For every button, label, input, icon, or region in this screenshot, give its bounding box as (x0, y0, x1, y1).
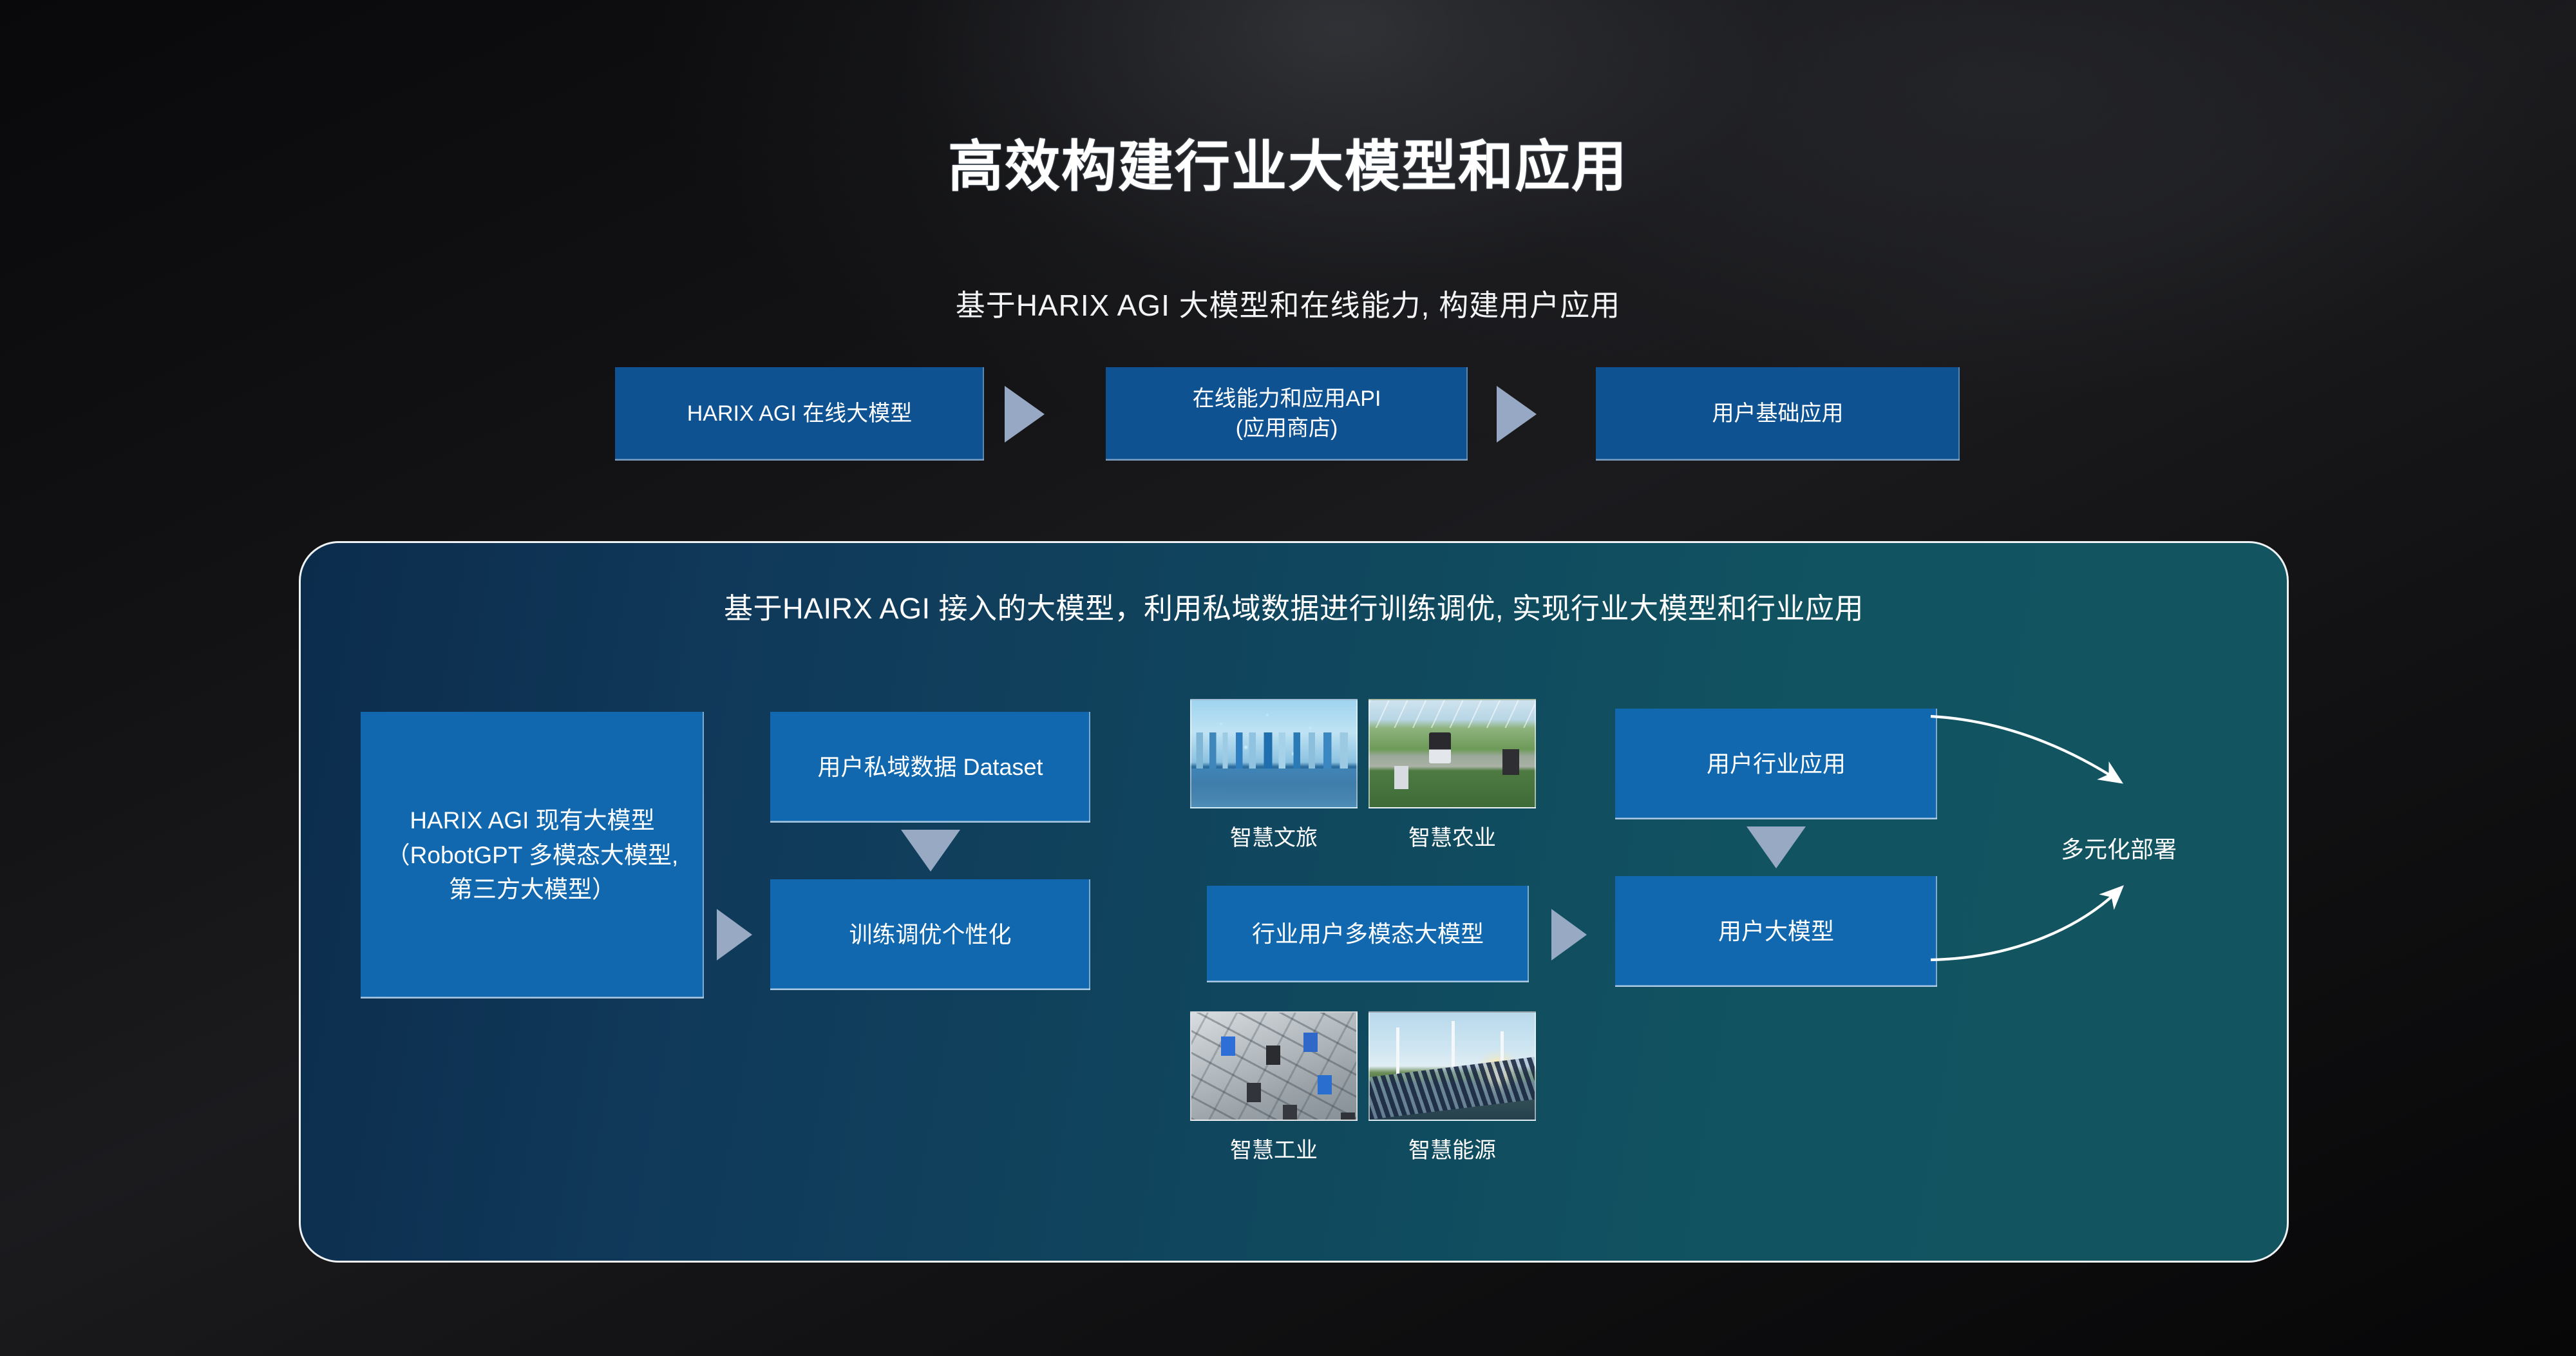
panel-box-user-app-label: 用户行业应用 (1707, 747, 1846, 781)
triangle-down-icon (901, 830, 960, 872)
harix-line-2: （RobotGPT 多模态大模型, (386, 842, 679, 868)
panel-box-train-tune[interactable]: 训练调优个性化 (770, 879, 1090, 990)
panel-box-user-model[interactable]: 用户大模型 (1615, 876, 1937, 987)
thumbnail-caption: 智慧农业 (1368, 820, 1536, 852)
flow-box-api-store-line1: 在线能力和应用API (1193, 387, 1381, 411)
thumbnail-smart-tourism[interactable]: 智慧文旅 (1190, 699, 1358, 852)
triangle-right-icon (1497, 386, 1537, 443)
arrow-curve-bottom (1931, 889, 2120, 960)
panel-box-multimodal-model-label: 行业用户多模态大模型 (1252, 917, 1484, 951)
flow-box-api-store-line2: (应用商店) (1236, 416, 1338, 441)
flow-box-online-model[interactable]: HARIX AGI 在线大模型 (615, 367, 984, 461)
thumbnail-smart-industry[interactable]: 智慧工业 (1190, 1011, 1358, 1164)
wind-solar-image (1368, 1011, 1536, 1121)
panel-box-harix-model-label: HARIX AGI 现有大模型 （RobotGPT 多模态大模型, 第三方大模型… (386, 803, 679, 907)
smart-city-network-image (1190, 699, 1358, 808)
thumbnail-caption: 智慧工业 (1190, 1132, 1358, 1164)
panel-box-harix-model[interactable]: HARIX AGI 现有大模型 （RobotGPT 多模态大模型, 第三方大模型… (361, 712, 704, 998)
top-flow-row: HARIX AGI 在线大模型 在线能力和应用API (应用商店) 用户基础应用 (615, 367, 1967, 461)
thumbnail-smart-agriculture[interactable]: 智慧农业 (1368, 699, 1536, 852)
deploy-label: 多元化部署 (2061, 831, 2177, 864)
harix-line-1: HARIX AGI 现有大模型 (410, 807, 654, 834)
flow-box-online-model-label: HARIX AGI 在线大模型 (687, 399, 913, 429)
thumbnail-smart-energy[interactable]: 智慧能源 (1368, 1011, 1536, 1164)
thumbnail-caption: 智慧能源 (1368, 1132, 1536, 1164)
arrow-curve-top (1931, 716, 2119, 781)
flow-box-api-store-label: 在线能力和应用API (应用商店) (1193, 385, 1381, 444)
panel-box-user-dataset[interactable]: 用户私域数据 Dataset (770, 712, 1090, 823)
greenhouse-robot-image (1368, 699, 1536, 808)
flow-box-user-basic-app[interactable]: 用户基础应用 (1596, 367, 1960, 461)
panel-box-user-dataset-label: 用户私域数据 Dataset (817, 750, 1043, 784)
panel-header: 基于HAIRX AGI 接入的大模型，利用私域数据进行训练调优, 实现行业大模型… (301, 585, 2287, 627)
triangle-right-icon (1551, 909, 1587, 960)
panel-box-user-app[interactable]: 用户行业应用 (1615, 709, 1937, 819)
page-title: 高效构建行业大模型和应用 (0, 121, 2576, 202)
factory-layout-image (1190, 1011, 1358, 1121)
triangle-right-icon (717, 909, 752, 960)
harix-line-3: 第三方大模型） (449, 876, 616, 902)
thumbnail-caption: 智慧文旅 (1190, 820, 1358, 852)
panel-box-train-tune-label: 训练调优个性化 (849, 918, 1011, 951)
subtitle: 基于HARIX AGI 大模型和在线能力, 构建用户应用 (0, 282, 2576, 325)
panel-box-user-model-label: 用户大模型 (1718, 915, 1834, 948)
triangle-right-icon (1005, 386, 1045, 443)
panel-box-multimodal-model[interactable]: 行业用户多模态大模型 (1207, 886, 1529, 982)
flow-box-api-store[interactable]: 在线能力和应用API (应用商店) (1106, 367, 1468, 461)
slide-canvas: 高效构建行业大模型和应用 基于HARIX AGI 大模型和在线能力, 构建用户应… (0, 0, 2576, 1356)
triangle-down-icon (1747, 826, 1806, 868)
flow-box-user-basic-app-label: 用户基础应用 (1712, 399, 1844, 429)
